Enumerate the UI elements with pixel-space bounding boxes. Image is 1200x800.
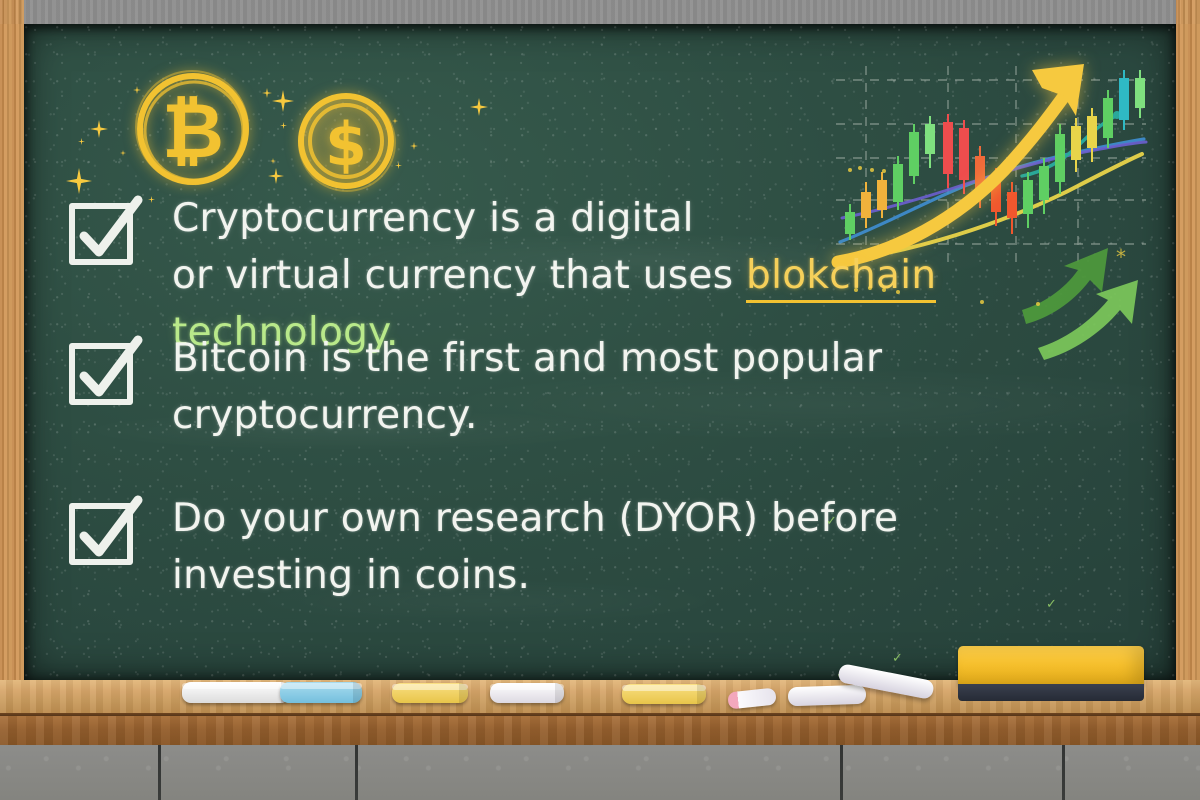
- chalk-yellow-2[interactable]: [622, 684, 706, 704]
- frame-top: [0, 0, 1200, 24]
- board-eraser[interactable]: [958, 646, 1144, 702]
- frame-inner-shadow: [24, 24, 1176, 680]
- chalk-blue[interactable]: [280, 682, 362, 703]
- chalk-white-1[interactable]: [182, 682, 290, 703]
- chalk-white-2[interactable]: [490, 683, 564, 703]
- board-frame: [0, 0, 1200, 745]
- tray-front-grain: [0, 716, 1200, 745]
- chalk-white-3[interactable]: [788, 685, 867, 707]
- chalk-tray-front: [0, 716, 1200, 745]
- frame-right: [1176, 0, 1200, 745]
- chalk-yellow-1[interactable]: [392, 683, 468, 703]
- eraser-base: [958, 684, 1144, 701]
- chalkboard-scene: ₿ $: [0, 0, 1200, 800]
- eraser-sponge: [958, 646, 1144, 686]
- frame-left: [0, 0, 24, 745]
